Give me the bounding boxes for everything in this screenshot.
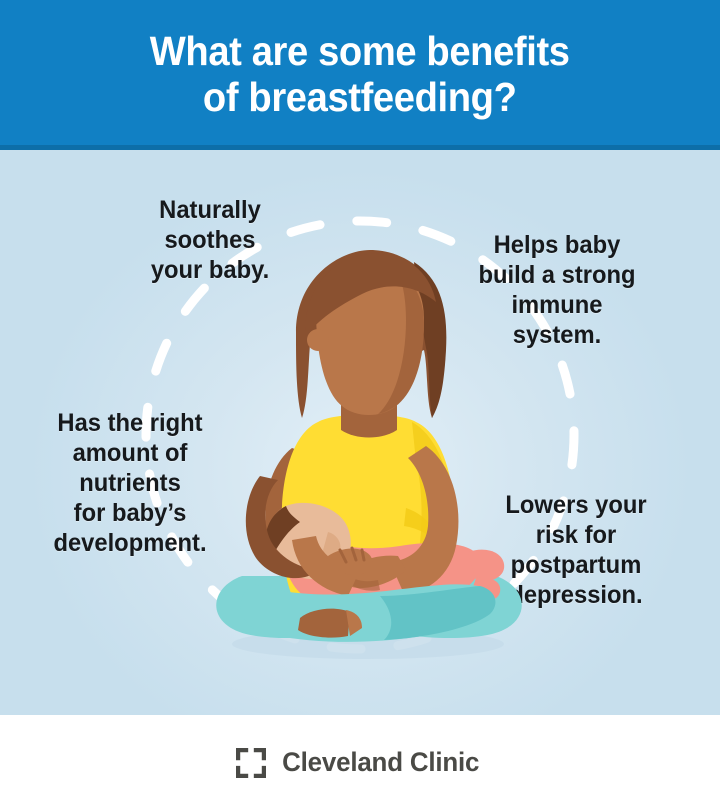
footer: Cleveland Clinic [0, 715, 720, 810]
header-band: What are some benefits of breastfeeding? [0, 0, 720, 150]
illustration-stage: Naturally soothes your baby. Helps baby … [0, 150, 720, 715]
page-title: What are some benefits of breastfeeding? [124, 29, 596, 121]
infographic-root: What are some benefits of breastfeeding?… [0, 0, 720, 810]
cleveland-clinic-logo-icon [236, 748, 266, 778]
brand-name: Cleveland Clinic [282, 747, 479, 778]
mother-breastfeeding-illustration [200, 240, 530, 680]
